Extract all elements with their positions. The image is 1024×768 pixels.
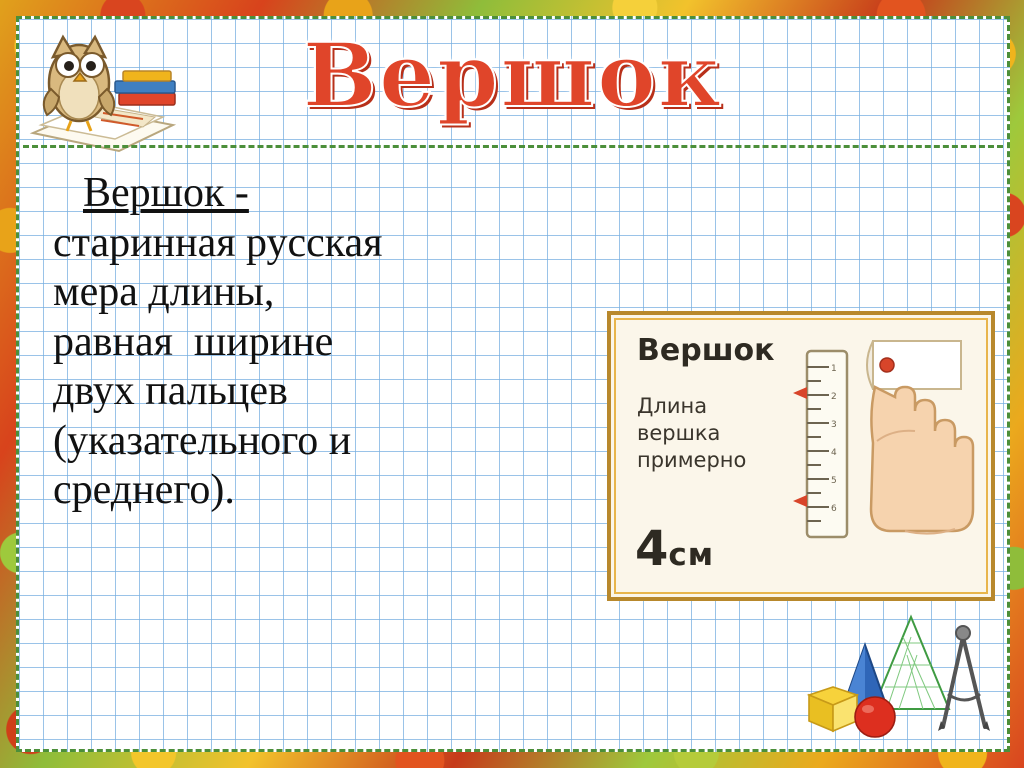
svg-text:5: 5 [831, 476, 837, 486]
svg-text:1: 1 [831, 364, 837, 374]
owl-with-books-icon [23, 21, 193, 161]
svg-text:2: 2 [831, 392, 837, 402]
definition-line-5: (указательного и [53, 417, 613, 467]
inset-measure-number: 4 [635, 521, 668, 577]
definition-line-6: среднего). [53, 466, 613, 516]
definition-line-3: равная ширине [53, 318, 613, 368]
definition-lead: Вершок - [53, 169, 613, 219]
svg-text:3: 3 [831, 420, 837, 430]
graph-paper-card: Вершок Вершок - старинная русская мера д… [16, 16, 1010, 752]
page-title: Вершок [303, 31, 724, 119]
slide-root: Вершок Вершок - старинная русская мера д… [0, 0, 1024, 768]
inset-measure-value: 4см [635, 521, 714, 577]
definition-line-2: мера длины, [53, 268, 613, 318]
inset-title: Вершок [637, 333, 775, 368]
svg-text:4: 4 [831, 448, 837, 458]
svg-text:6: 6 [831, 504, 837, 514]
inset-subtitle: Длина вершка примерно [637, 393, 746, 474]
definition-line-1: старинная русская [53, 219, 613, 269]
inset-measure-unit: см [668, 537, 714, 573]
definition-line-4: двух пальцев [53, 367, 613, 417]
title-divider [23, 145, 1003, 148]
vershok-illustration-card: Вершок Длина вершка примерно 4см [607, 311, 995, 601]
hand-with-ruler-icon: 1 2 3 4 5 6 [755, 321, 985, 597]
definition-text: Вершок - старинная русская мера длины, р… [53, 169, 613, 516]
math-shapes-icon [803, 609, 993, 739]
